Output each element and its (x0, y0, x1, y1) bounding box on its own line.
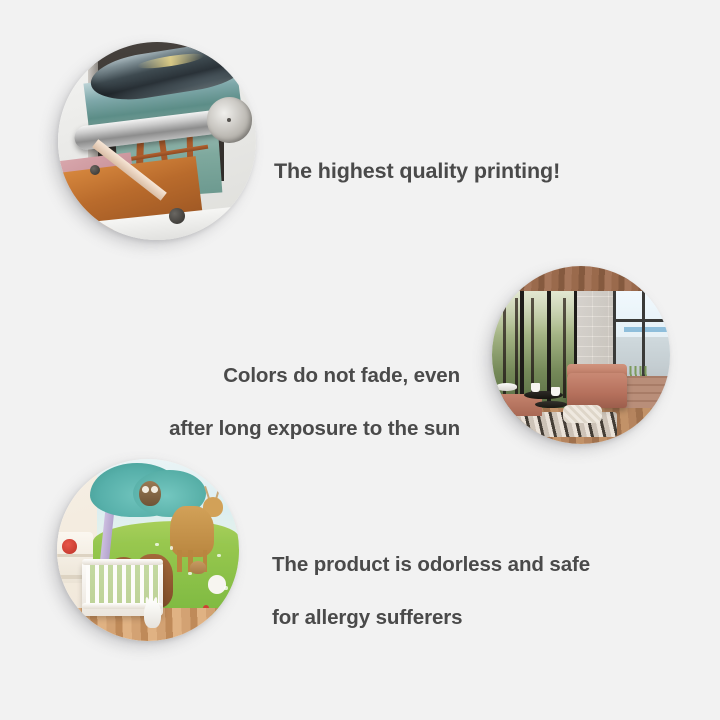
nursery-woodland-mural-photo (57, 459, 239, 641)
caption-line: The product is odorless and safe (272, 552, 592, 579)
cup (531, 383, 540, 392)
caption-colors-do-not-fade: Colors do not fade, even after long expo… (150, 336, 460, 469)
mural-owl (139, 481, 161, 506)
wallpaper-tree-trunk (563, 298, 566, 397)
mural-hedgehog (190, 561, 206, 574)
caption-line: Colors do not fade, even (150, 363, 460, 390)
caption-odorless-and-safe: The product is odorless and safe for all… (272, 525, 592, 658)
living-room-forest-mural-photo (492, 266, 670, 444)
window-mullion (613, 319, 670, 322)
caption-line: The highest quality printing! (274, 158, 560, 186)
wallpaper-tree-trunk (515, 298, 518, 394)
floor-lamp-shade (496, 383, 517, 390)
owl-eye (151, 486, 158, 493)
caption-line: after long exposure to the sun (150, 416, 460, 443)
red-toy (62, 539, 77, 554)
infographic-canvas: The highest quality printing! (0, 0, 720, 720)
printing-machine-photo (58, 42, 256, 240)
caption-highest-quality-printing: The highest quality printing! (274, 130, 560, 214)
knitted-ottoman (563, 405, 602, 423)
living-room-scene (492, 266, 670, 444)
shelf-board (57, 554, 93, 558)
cup (551, 387, 560, 396)
nursery-scene (57, 459, 239, 641)
wooden-ceiling (492, 266, 670, 291)
bunny-toy (144, 601, 160, 628)
owl-eye (142, 486, 149, 493)
printer-end-disc (207, 97, 253, 143)
printer-knob (90, 165, 100, 175)
sky-band (624, 327, 670, 332)
deer-leg (177, 550, 182, 572)
mural-flower (217, 554, 221, 558)
printer-knob (169, 208, 185, 224)
mural-sheep (208, 575, 226, 593)
printing-machine-scene (58, 42, 256, 240)
caption-line: for allergy sufferers (272, 605, 592, 632)
leather-sofa (567, 373, 628, 409)
crib-top-rail (82, 559, 162, 565)
